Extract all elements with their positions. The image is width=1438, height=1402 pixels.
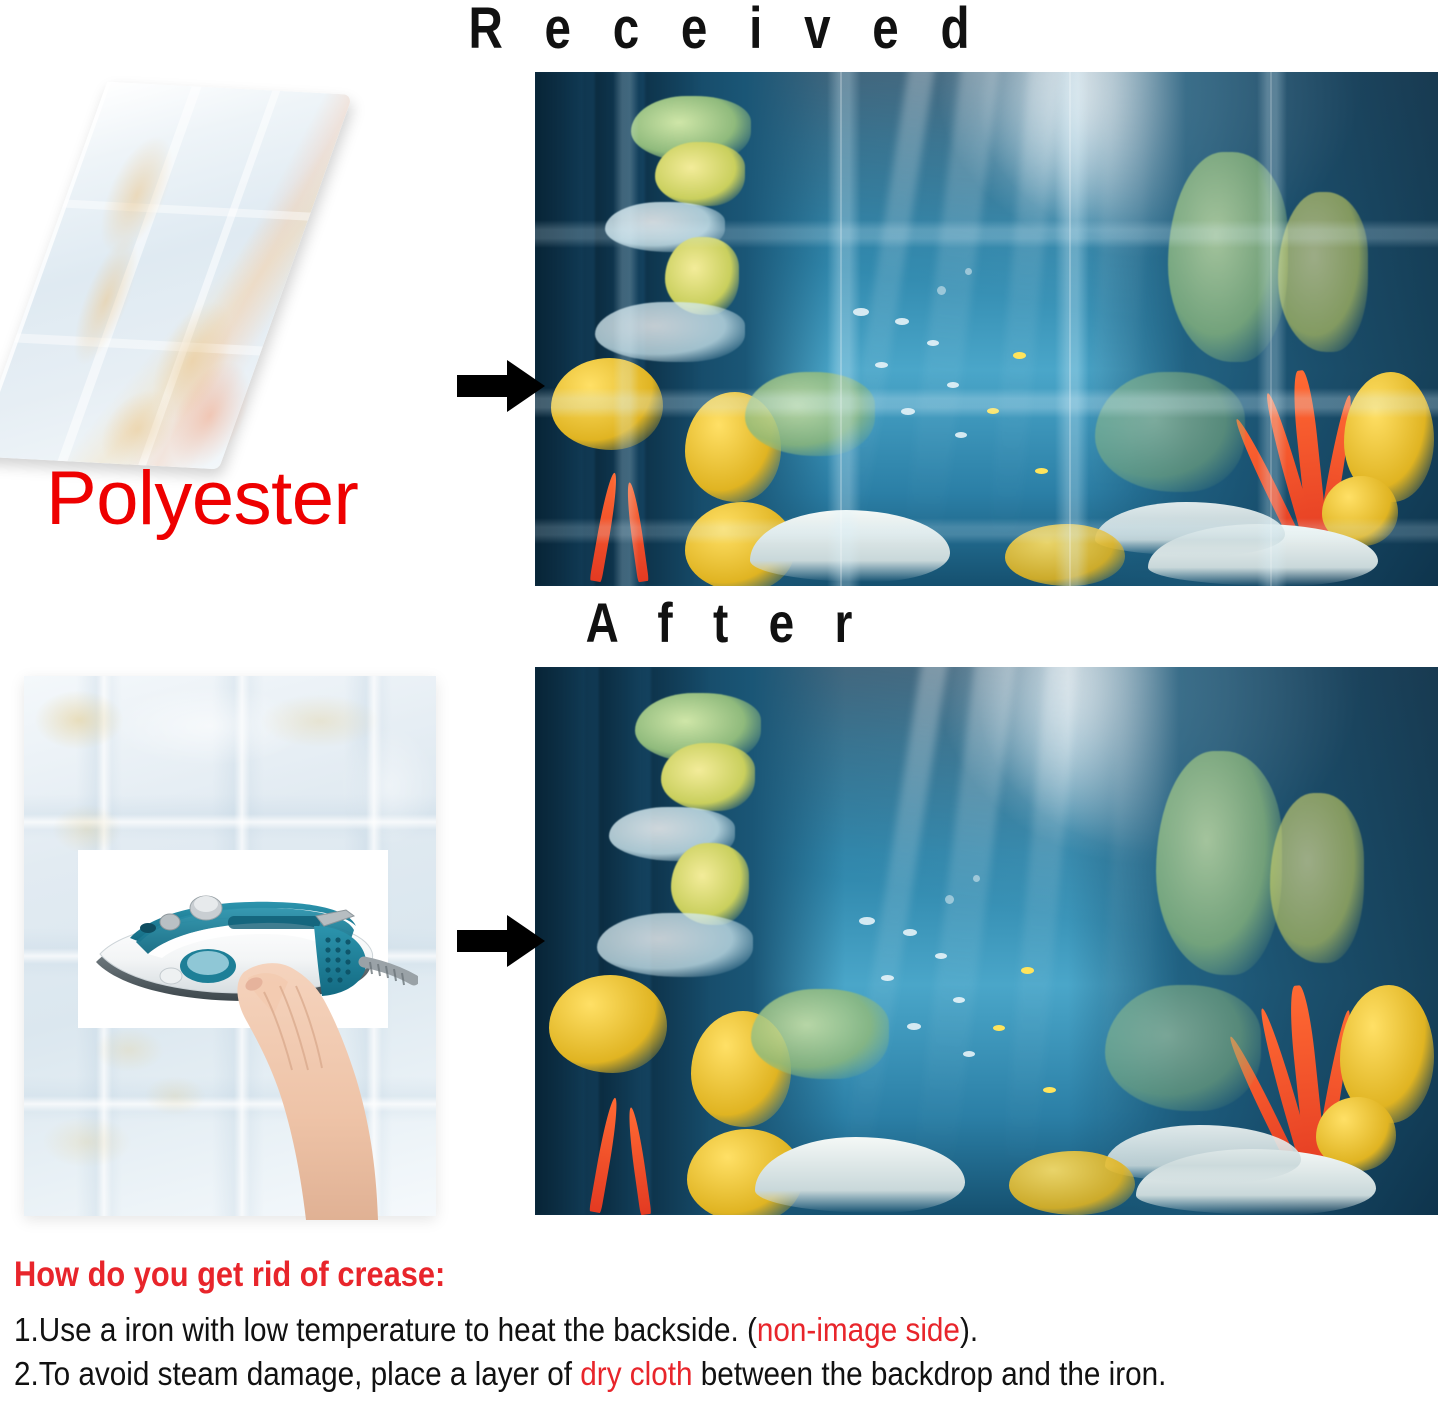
crease-horizontal: [535, 518, 1438, 544]
fish: [927, 340, 939, 346]
sea-grass: [1156, 751, 1282, 975]
algae-cluster: [597, 913, 753, 977]
fish: [963, 1051, 975, 1057]
sea-grass: [1278, 192, 1368, 352]
fish: [935, 953, 947, 959]
instruction-1-suffix: ).: [960, 1311, 978, 1348]
polyester-label: Polyester: [46, 455, 358, 542]
instruction-line-2: 2.To avoid steam damage, place a layer o…: [14, 1352, 1292, 1396]
folded-fabric-shape: [0, 82, 353, 470]
fish: [895, 318, 909, 325]
crease-horizontal: [535, 220, 1438, 248]
fish: [881, 975, 894, 981]
crease-vertical: [1055, 72, 1089, 586]
yellow-coral: [549, 975, 667, 1073]
fish: [859, 917, 875, 925]
swatch-edge-highlight: [0, 82, 111, 457]
fish: [875, 362, 888, 368]
bubble: [973, 875, 980, 882]
yellow-coral: [1009, 1151, 1135, 1215]
print-ghost: [144, 1076, 206, 1116]
yellow-fish: [1035, 468, 1048, 474]
crease-vertical: [613, 72, 639, 586]
instruction-2-suffix: between the backdrop and the iron.: [693, 1355, 1167, 1392]
instructions-block: How do you get rid of crease: 1.Use a ir…: [14, 1254, 1434, 1396]
instruction-line-1: 1.Use a iron with low temperature to hea…: [14, 1308, 1292, 1352]
fish: [903, 929, 917, 936]
bubble: [945, 895, 954, 904]
fish: [955, 432, 967, 438]
received-backdrop-image: [535, 72, 1438, 586]
algae-cluster: [751, 989, 889, 1079]
polyester-swatch-photo: [8, 78, 428, 478]
swatch-print-ghost-1: [86, 134, 188, 257]
yellow-fish: [993, 1025, 1005, 1031]
bubble: [937, 286, 946, 295]
print-ghost: [42, 1116, 132, 1168]
sea-grass: [1270, 793, 1364, 963]
crease-horizontal: [535, 388, 1438, 418]
after-heading: A f t e r: [129, 593, 1308, 653]
print-ghost: [94, 1028, 164, 1072]
swatch-fold-3: [62, 200, 311, 221]
right-arrow-icon: [455, 355, 547, 417]
print-ghost: [340, 726, 436, 846]
fold-line: [24, 1096, 436, 1112]
crease-fold-line: [1270, 72, 1272, 586]
bubble: [965, 268, 972, 275]
yellow-fish: [1043, 1087, 1056, 1093]
instruction-2-prefix: 2.To avoid steam damage, place a layer o…: [14, 1355, 580, 1392]
instruction-1-highlight: non-image side: [757, 1311, 960, 1348]
crease-fold-line: [1069, 72, 1071, 586]
instruction-1-prefix: 1.Use a iron with low temperature to hea…: [14, 1311, 757, 1348]
iron-photo-card: [78, 850, 388, 1028]
algae-cluster: [661, 743, 755, 811]
crease-fold-line: [840, 72, 842, 586]
received-heading: R e c e i v e d: [129, 0, 1308, 60]
algae-cluster: [1105, 985, 1261, 1111]
yellow-fish: [1021, 967, 1034, 974]
fish: [907, 1023, 921, 1030]
crease-vertical: [1257, 72, 1287, 586]
print-ghost: [52, 804, 122, 854]
fish: [953, 997, 965, 1003]
instruction-2-highlight: dry cloth: [580, 1355, 692, 1392]
crease-vertical: [827, 72, 861, 586]
algae-cluster: [655, 142, 745, 206]
yellow-fish: [1013, 352, 1026, 359]
instructions-heading: How do you get rid of crease:: [14, 1254, 1264, 1296]
rock-column: [535, 72, 583, 586]
after-backdrop-image: [535, 667, 1438, 1215]
right-arrow-icon: [455, 910, 547, 972]
